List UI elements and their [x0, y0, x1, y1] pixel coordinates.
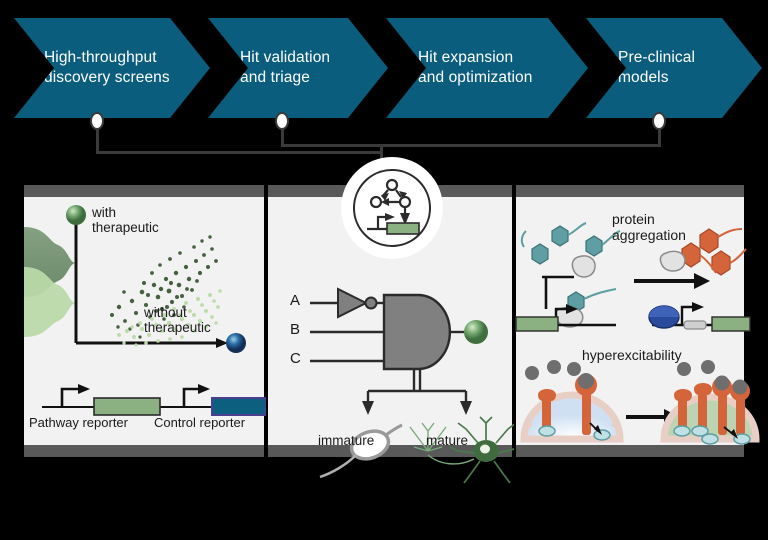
connector-hline-1: [96, 151, 381, 154]
preclinical-models-panel: protein aggregation hyperexcitability: [514, 185, 746, 457]
with-therapeutic-marker: [66, 205, 86, 225]
gate-output-indicator: [464, 320, 488, 344]
pipeline-step-2[interactable]: Hit validation and triage: [208, 18, 388, 118]
without-therapeutic-label: without therapeutic: [144, 305, 211, 335]
immature-label: immature: [318, 433, 374, 448]
pipeline-connector-node-4: [652, 112, 666, 130]
hyperexcitability-graphic: [516, 343, 748, 443]
pipeline-connector-node-2: [275, 112, 289, 130]
pathway-reporter-gene: [94, 398, 160, 415]
diagram-canvas: High-throughput discovery screens Hit va…: [0, 0, 768, 540]
control-reporter-label: Control reporter: [154, 415, 245, 430]
pipeline-step-4[interactable]: Pre-clinical models: [586, 18, 762, 118]
pipeline-step-2-label: Hit validation and triage: [208, 48, 330, 88]
mature-neuron-graphic: [400, 417, 530, 489]
pipeline-step-3-label: Hit expansion and optimization: [386, 48, 532, 88]
pipeline-step-4-label: Pre-clinical models: [586, 48, 695, 88]
panel1-bottom-bar: [24, 445, 264, 457]
protein-aggregation-label: protein aggregation: [612, 211, 686, 243]
connector-hline-3: [381, 144, 661, 147]
gene-network-icon: [347, 163, 437, 253]
mature-label: mature: [426, 433, 468, 448]
without-therapeutic-marker: [226, 333, 246, 353]
logic-gate-graphic: [268, 287, 516, 417]
network-callout-badge: [347, 163, 437, 253]
pipeline-step-1-label: High-throughput discovery screens: [14, 48, 170, 88]
panel3-bottom-bar: [516, 445, 744, 457]
connector-hline-2: [281, 144, 383, 147]
pipeline-step-3[interactable]: Hit expansion and optimization: [386, 18, 588, 118]
pathway-reporter-label: Pathway reporter: [29, 415, 128, 430]
discovery-screen-panel: with therapeutic without therapeutic Pat…: [22, 185, 266, 457]
panel1-top-bar: [24, 185, 264, 197]
pipeline-connector-node-1: [90, 112, 104, 130]
with-therapeutic-label: with therapeutic: [92, 205, 159, 235]
panel3-top-bar: [516, 185, 744, 197]
pipeline-step-1[interactable]: High-throughput discovery screens: [14, 18, 210, 118]
control-reporter-gene: [212, 398, 266, 415]
